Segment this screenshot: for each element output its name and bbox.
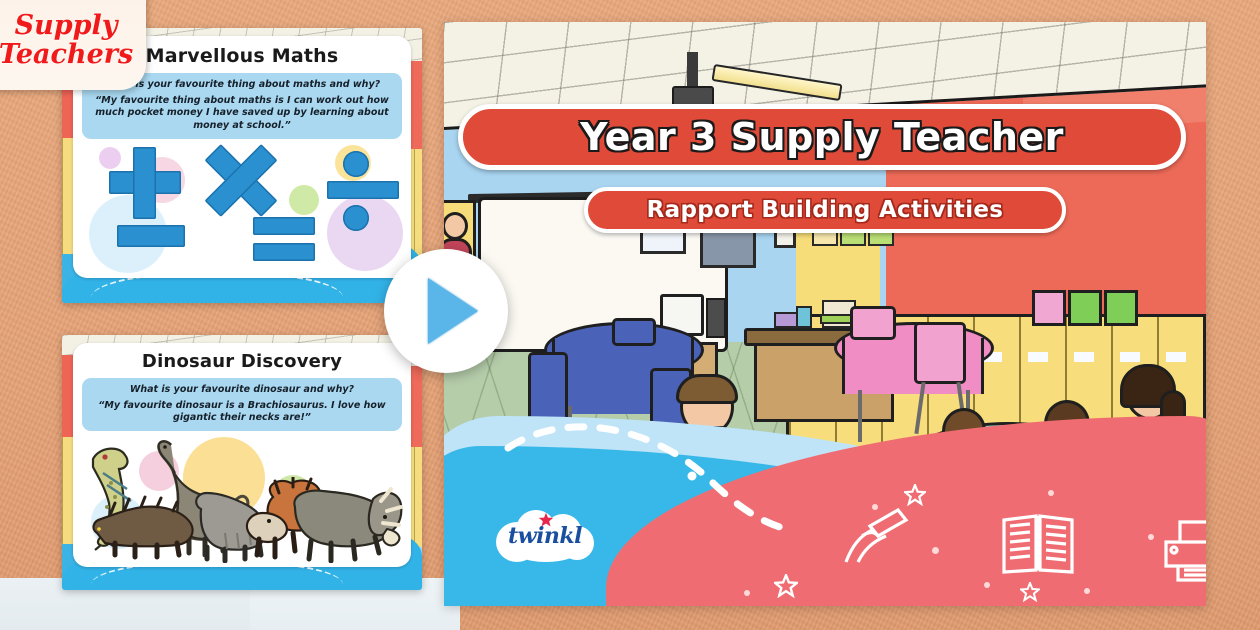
slide-title: Dinosaur Discovery [73, 343, 411, 372]
slide-question: What is your favourite dinosaur and why? [90, 384, 394, 396]
supply-teachers-badge: Supply Teachers [0, 0, 146, 90]
dot-sparkle [984, 582, 990, 588]
deco-circle [289, 185, 319, 215]
dot-sparkle [872, 504, 878, 510]
table-leg [858, 390, 862, 442]
slide-thumbnail-dinosaur-discovery[interactable]: Dinosaur Discovery What is your favourit… [62, 335, 422, 590]
open-book-icon [1000, 512, 1076, 576]
divide-icon [343, 151, 369, 177]
play-icon [428, 278, 478, 344]
screenshot-root: twinkl [0, 0, 1260, 630]
star-icon [538, 512, 554, 528]
dot-sparkle [1148, 534, 1154, 540]
projector-pole [687, 52, 698, 90]
slide-answer: “My favourite dinosaur is a Brachiosauru… [90, 400, 394, 425]
maths-symbols-art [73, 143, 411, 271]
star-outline-icon [774, 574, 798, 598]
dot-sparkle [1048, 490, 1054, 496]
chair-pink-right [914, 322, 966, 384]
dot-sparkle [932, 547, 939, 554]
title-banner: Year 3 Supply Teacher [458, 104, 1186, 170]
subtitle-banner: Rapport Building Activities [584, 187, 1066, 233]
deco-circle [99, 147, 121, 169]
slide-card: Dinosaur Discovery What is your favourit… [73, 343, 411, 567]
badge-line-1: Supply [15, 11, 118, 40]
dinosaur-art [73, 433, 411, 563]
chair-pink-back [850, 306, 896, 340]
star-outline-icon [1020, 582, 1040, 602]
printer-icon [1158, 518, 1206, 584]
pen-pot [796, 306, 812, 328]
deco-circle [327, 195, 403, 271]
badge-line-2: Teachers [0, 40, 133, 69]
chair-blue-back [612, 318, 656, 346]
hand-writing-icon [842, 506, 916, 566]
star-outline-icon [904, 484, 926, 506]
play-button[interactable] [384, 249, 508, 373]
dinosaur-triceratops [287, 477, 407, 563]
slide-qa-box: What is your favourite dinosaur and why?… [82, 378, 402, 432]
twinkl-logo: twinkl [492, 506, 598, 564]
equals-icon [253, 217, 315, 235]
chair-blue-left [528, 352, 568, 422]
speaker [706, 298, 726, 338]
locker-top-box-green-1 [1068, 290, 1102, 326]
dot-sparkle [1084, 588, 1090, 594]
divide-icon [343, 205, 369, 231]
video-preview-panel[interactable]: twinkl [444, 22, 1206, 606]
dot-sparkle [744, 590, 750, 596]
minus-icon [117, 225, 185, 247]
page-subtitle: Rapport Building Activities [647, 197, 1004, 223]
divide-icon [327, 181, 399, 199]
locker-top-box-pink [1032, 290, 1066, 326]
locker-top-box-green-2 [1104, 290, 1138, 326]
page-title: Year 3 Supply Teacher [580, 115, 1064, 159]
plus-icon [133, 147, 156, 219]
equals-icon [253, 243, 315, 261]
slide-answer: “My favourite thing about maths is I can… [90, 95, 394, 132]
